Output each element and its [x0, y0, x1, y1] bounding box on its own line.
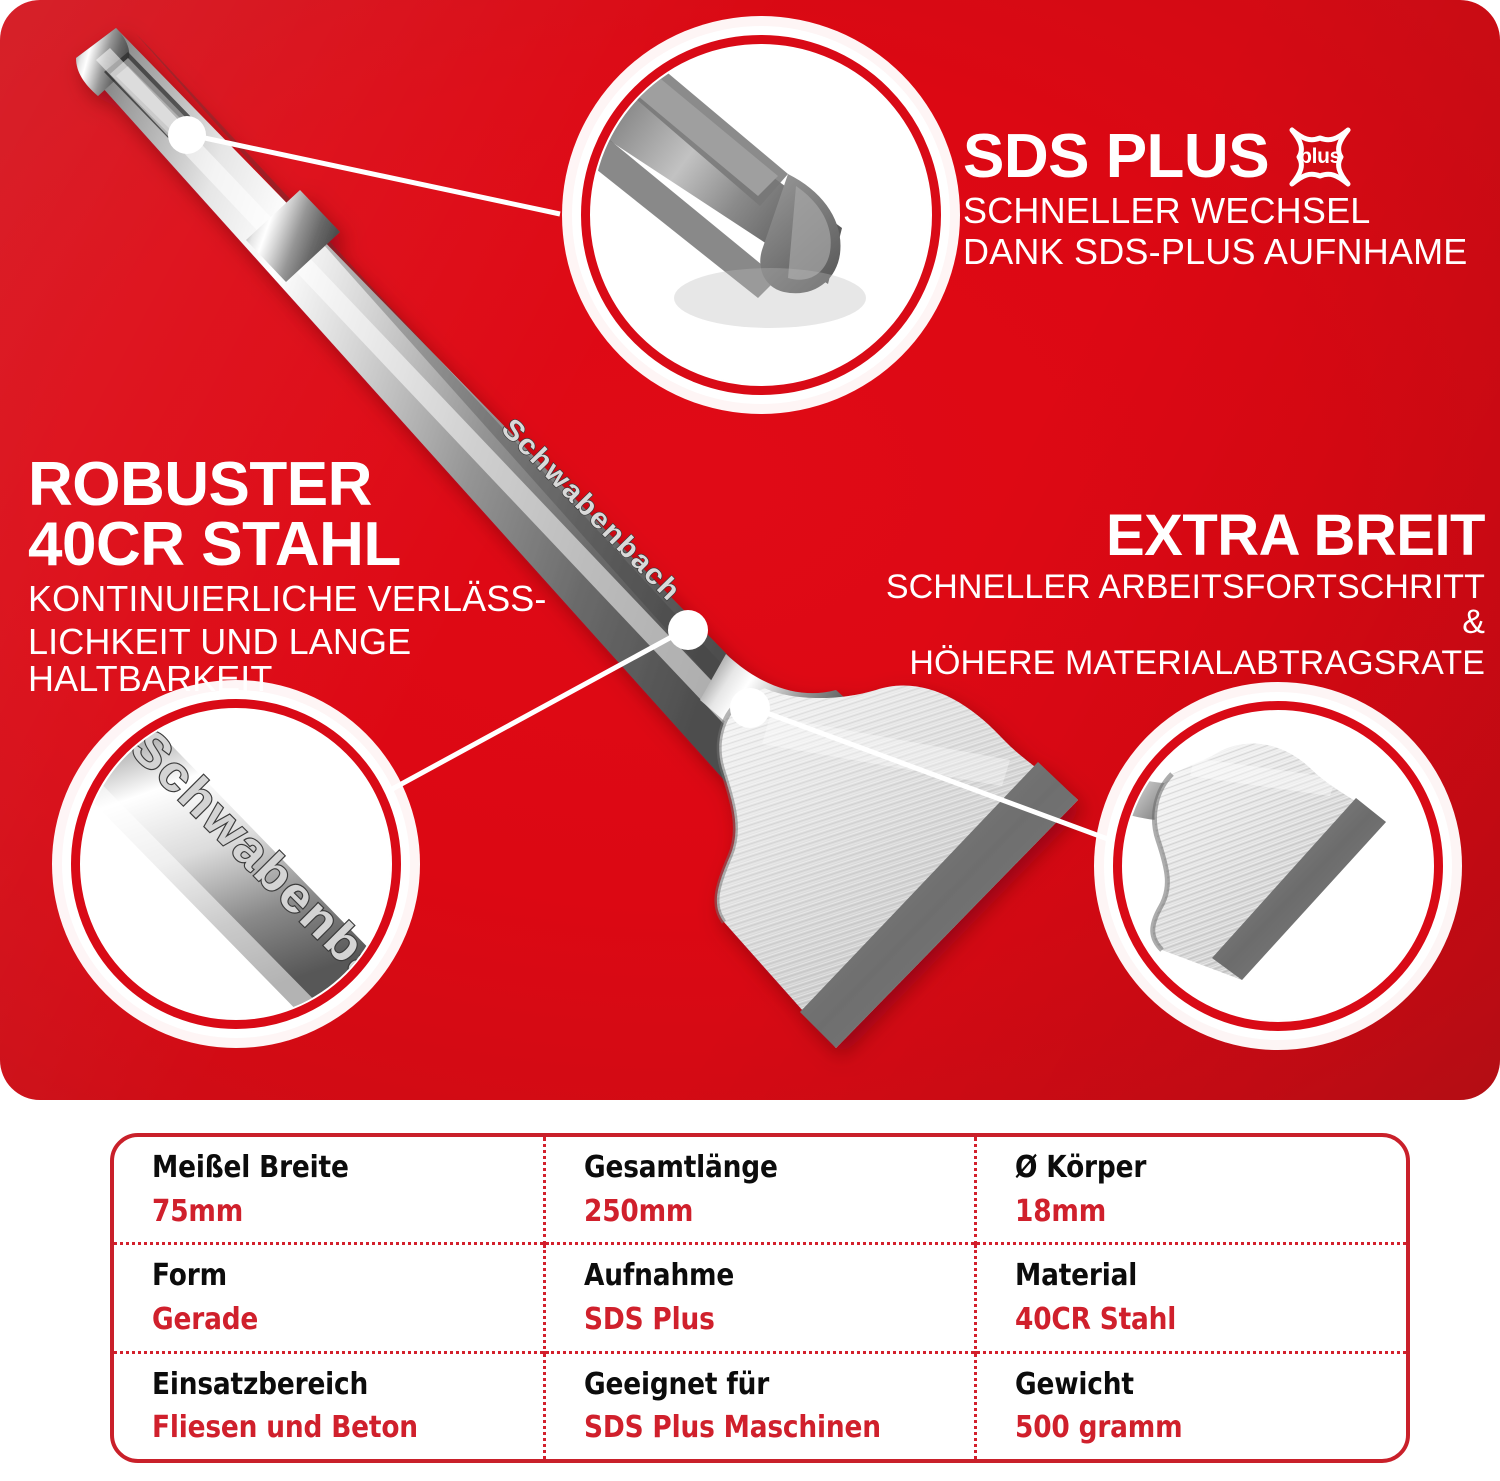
feature-sds-plus: SDS PLUS plus SCHNELLER WECHSEL DANK SDS… [963, 126, 1483, 270]
feature-robuster-stahl: ROBUSTER 40CR STAHL KONTINUIERLICHE VERL… [28, 455, 648, 697]
spec-label: Gesamtlänge [584, 1149, 928, 1187]
table-row: Meißel Breite 75mm Gesamtlänge 250mm Ø K… [114, 1137, 1406, 1244]
wide-blade-zoom-image [1124, 712, 1432, 1020]
spec-cell-gewicht: Gewicht 500 gramm [976, 1352, 1406, 1459]
spec-cell-geeignet-fuer: Geeignet für SDS Plus Maschinen [544, 1352, 976, 1459]
spec-cell-koerper: Ø Körper 18mm [976, 1137, 1406, 1244]
sds-plus-badge-label: plus [1283, 126, 1357, 188]
robuster-sub-line1: KONTINUIERLICHE VERLÄSS- [28, 580, 648, 617]
brand-engraving-zoom-image: Schwabenbach [82, 710, 390, 1018]
extra-breit-sub-line1: SCHNELLER ARBEITSFORTSCHRITT & [875, 570, 1485, 640]
extra-breit-sub-line2: HÖHERE MATERIALABTRAGSRATE [875, 646, 1485, 681]
specification-table: Meißel Breite 75mm Gesamtlänge 250mm Ø K… [110, 1133, 1410, 1463]
robuster-sub-line2: LICHKEIT UND LANGE HALTBARKEIT [28, 623, 648, 697]
callout-circle-wide-blade [1104, 692, 1452, 1040]
spec-label: Aufnahme [584, 1257, 928, 1295]
spec-cell-aufnahme: Aufnahme SDS Plus [544, 1244, 976, 1352]
hero-panel: Schwabenbach [0, 0, 1500, 1100]
spec-value: SDS Plus [584, 1301, 928, 1339]
table-row: Form Gerade Aufnahme SDS Plus Material 4… [114, 1244, 1406, 1352]
feature-extra-breit: EXTRA BREIT SCHNELLER ARBEITSFORTSCHRITT… [875, 508, 1485, 681]
robuster-headline-line1: ROBUSTER [28, 455, 648, 515]
sds-plus-sub-line1: SCHNELLER WECHSEL [963, 192, 1483, 229]
spec-cell-material: Material 40CR Stahl [976, 1244, 1406, 1352]
callout-circle-brand-engraving: Schwabenbach [62, 690, 410, 1038]
robuster-headline-line2: 40CR STAHL [28, 515, 648, 575]
sds-plus-headline-row: SDS PLUS plus [963, 126, 1483, 188]
spec-label: Form [152, 1257, 496, 1295]
spec-label: Geeignet für [584, 1366, 928, 1404]
spec-value: 250mm [584, 1193, 928, 1231]
callout-dot-shaft [668, 610, 708, 650]
spec-table-grid: Meißel Breite 75mm Gesamtlänge 250mm Ø K… [114, 1137, 1406, 1459]
spec-value: SDS Plus Maschinen [584, 1409, 928, 1447]
extra-breit-headline: EXTRA BREIT [875, 508, 1485, 564]
callout-dot-sds [168, 116, 206, 154]
spec-value: 75mm [152, 1193, 496, 1231]
spec-cell-gesamtlaenge: Gesamtlänge 250mm [544, 1137, 976, 1244]
spec-value: 500 gramm [1015, 1409, 1359, 1447]
spec-value: Fliesen und Beton [152, 1409, 496, 1447]
spec-value: 40CR Stahl [1015, 1301, 1359, 1339]
spec-value: 18mm [1015, 1193, 1359, 1231]
spec-cell-form: Form Gerade [114, 1244, 544, 1352]
sds-plus-headline: SDS PLUS [963, 127, 1269, 187]
spec-cell-einsatzbereich: Einsatzbereich Fliesen und Beton [114, 1352, 544, 1459]
callout-circle-sds-shank [572, 26, 950, 404]
spec-label: Material [1015, 1257, 1359, 1295]
sds-plus-badge-icon: plus [1283, 126, 1357, 188]
sds-plus-sub-line2: DANK SDS-PLUS AUFNHAME [963, 233, 1483, 270]
spec-label: Gewicht [1015, 1366, 1359, 1404]
callout-dot-blade [730, 688, 770, 728]
table-row: Einsatzbereich Fliesen und Beton Geeigne… [114, 1352, 1406, 1459]
spec-cell-meissel-breite: Meißel Breite 75mm [114, 1137, 544, 1244]
spec-label: Ø Körper [1015, 1149, 1359, 1187]
sds-shank-zoom-image [592, 46, 930, 384]
spec-value: Gerade [152, 1301, 496, 1339]
spec-label: Meißel Breite [152, 1149, 496, 1187]
spec-label: Einsatzbereich [152, 1366, 496, 1404]
